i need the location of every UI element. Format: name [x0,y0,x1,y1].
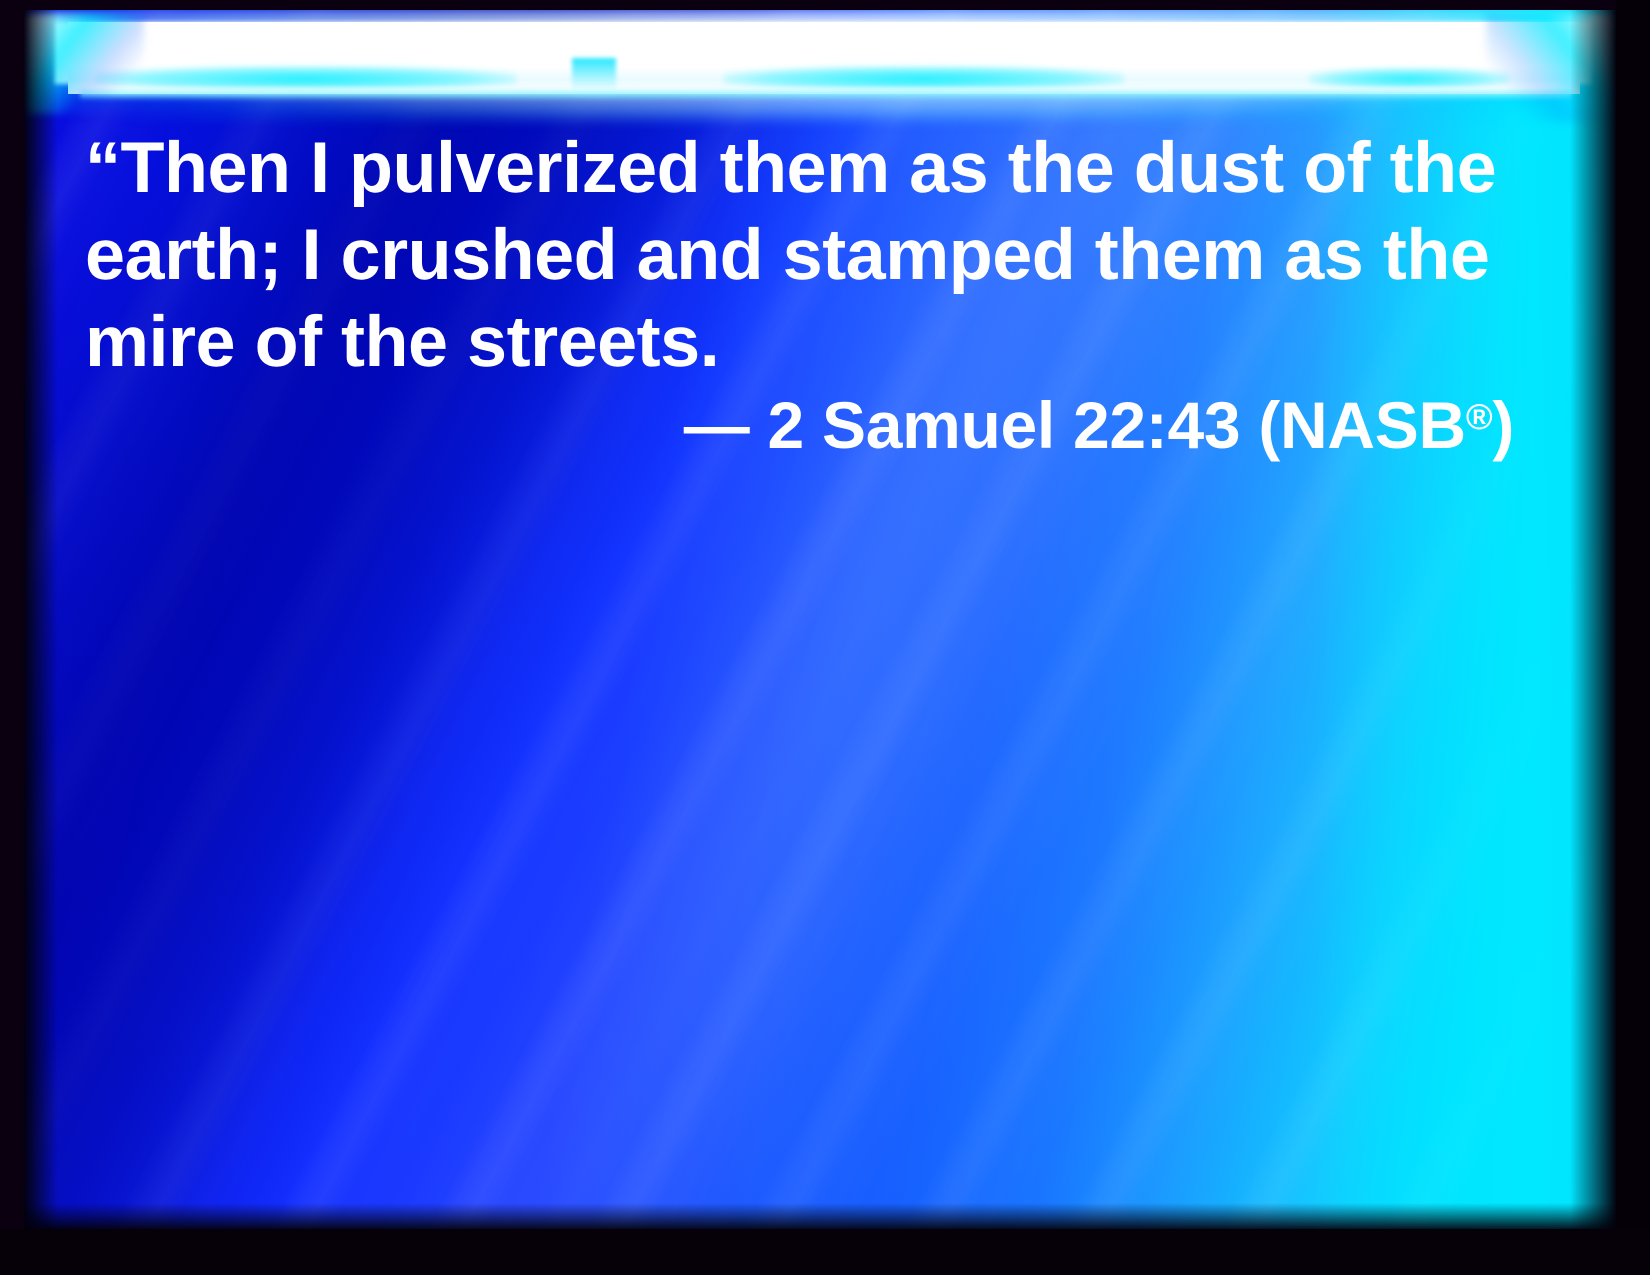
verse-attribution: — 2 Samuel 22:43 (NASB®) [24,392,1616,458]
glow-underline [80,88,1572,100]
attribution-version: NASB [1280,388,1466,462]
glow-corner-left [24,14,144,114]
glow-corner-right [1486,14,1616,122]
verse-line-1: “Then I pulverized them as the dust of t… [85,132,1496,204]
verse-line-3: mire of the streets. [85,306,719,378]
attribution-spacer-2 [1240,388,1258,462]
frame-border-bottom [0,1229,1650,1275]
glow-cyan-streak-right [1309,68,1509,90]
attribution-close-paren: ) [1492,388,1514,462]
attribution-reference: 2 Samuel 22:43 [768,388,1241,462]
frame-border-left [0,0,24,1275]
attribution-em-dash: — [684,388,750,462]
registered-trademark-icon: ® [1466,396,1492,437]
frame-border-right [1616,0,1650,1275]
verse-line-2: earth; I crushed and stamped them as the [85,219,1489,291]
attribution-spacer-1 [750,388,768,462]
scripture-slide: “Then I pulverized them as the dust of t… [0,0,1650,1275]
frame-border-top [0,0,1650,10]
attribution-open-paren: ( [1258,388,1280,462]
